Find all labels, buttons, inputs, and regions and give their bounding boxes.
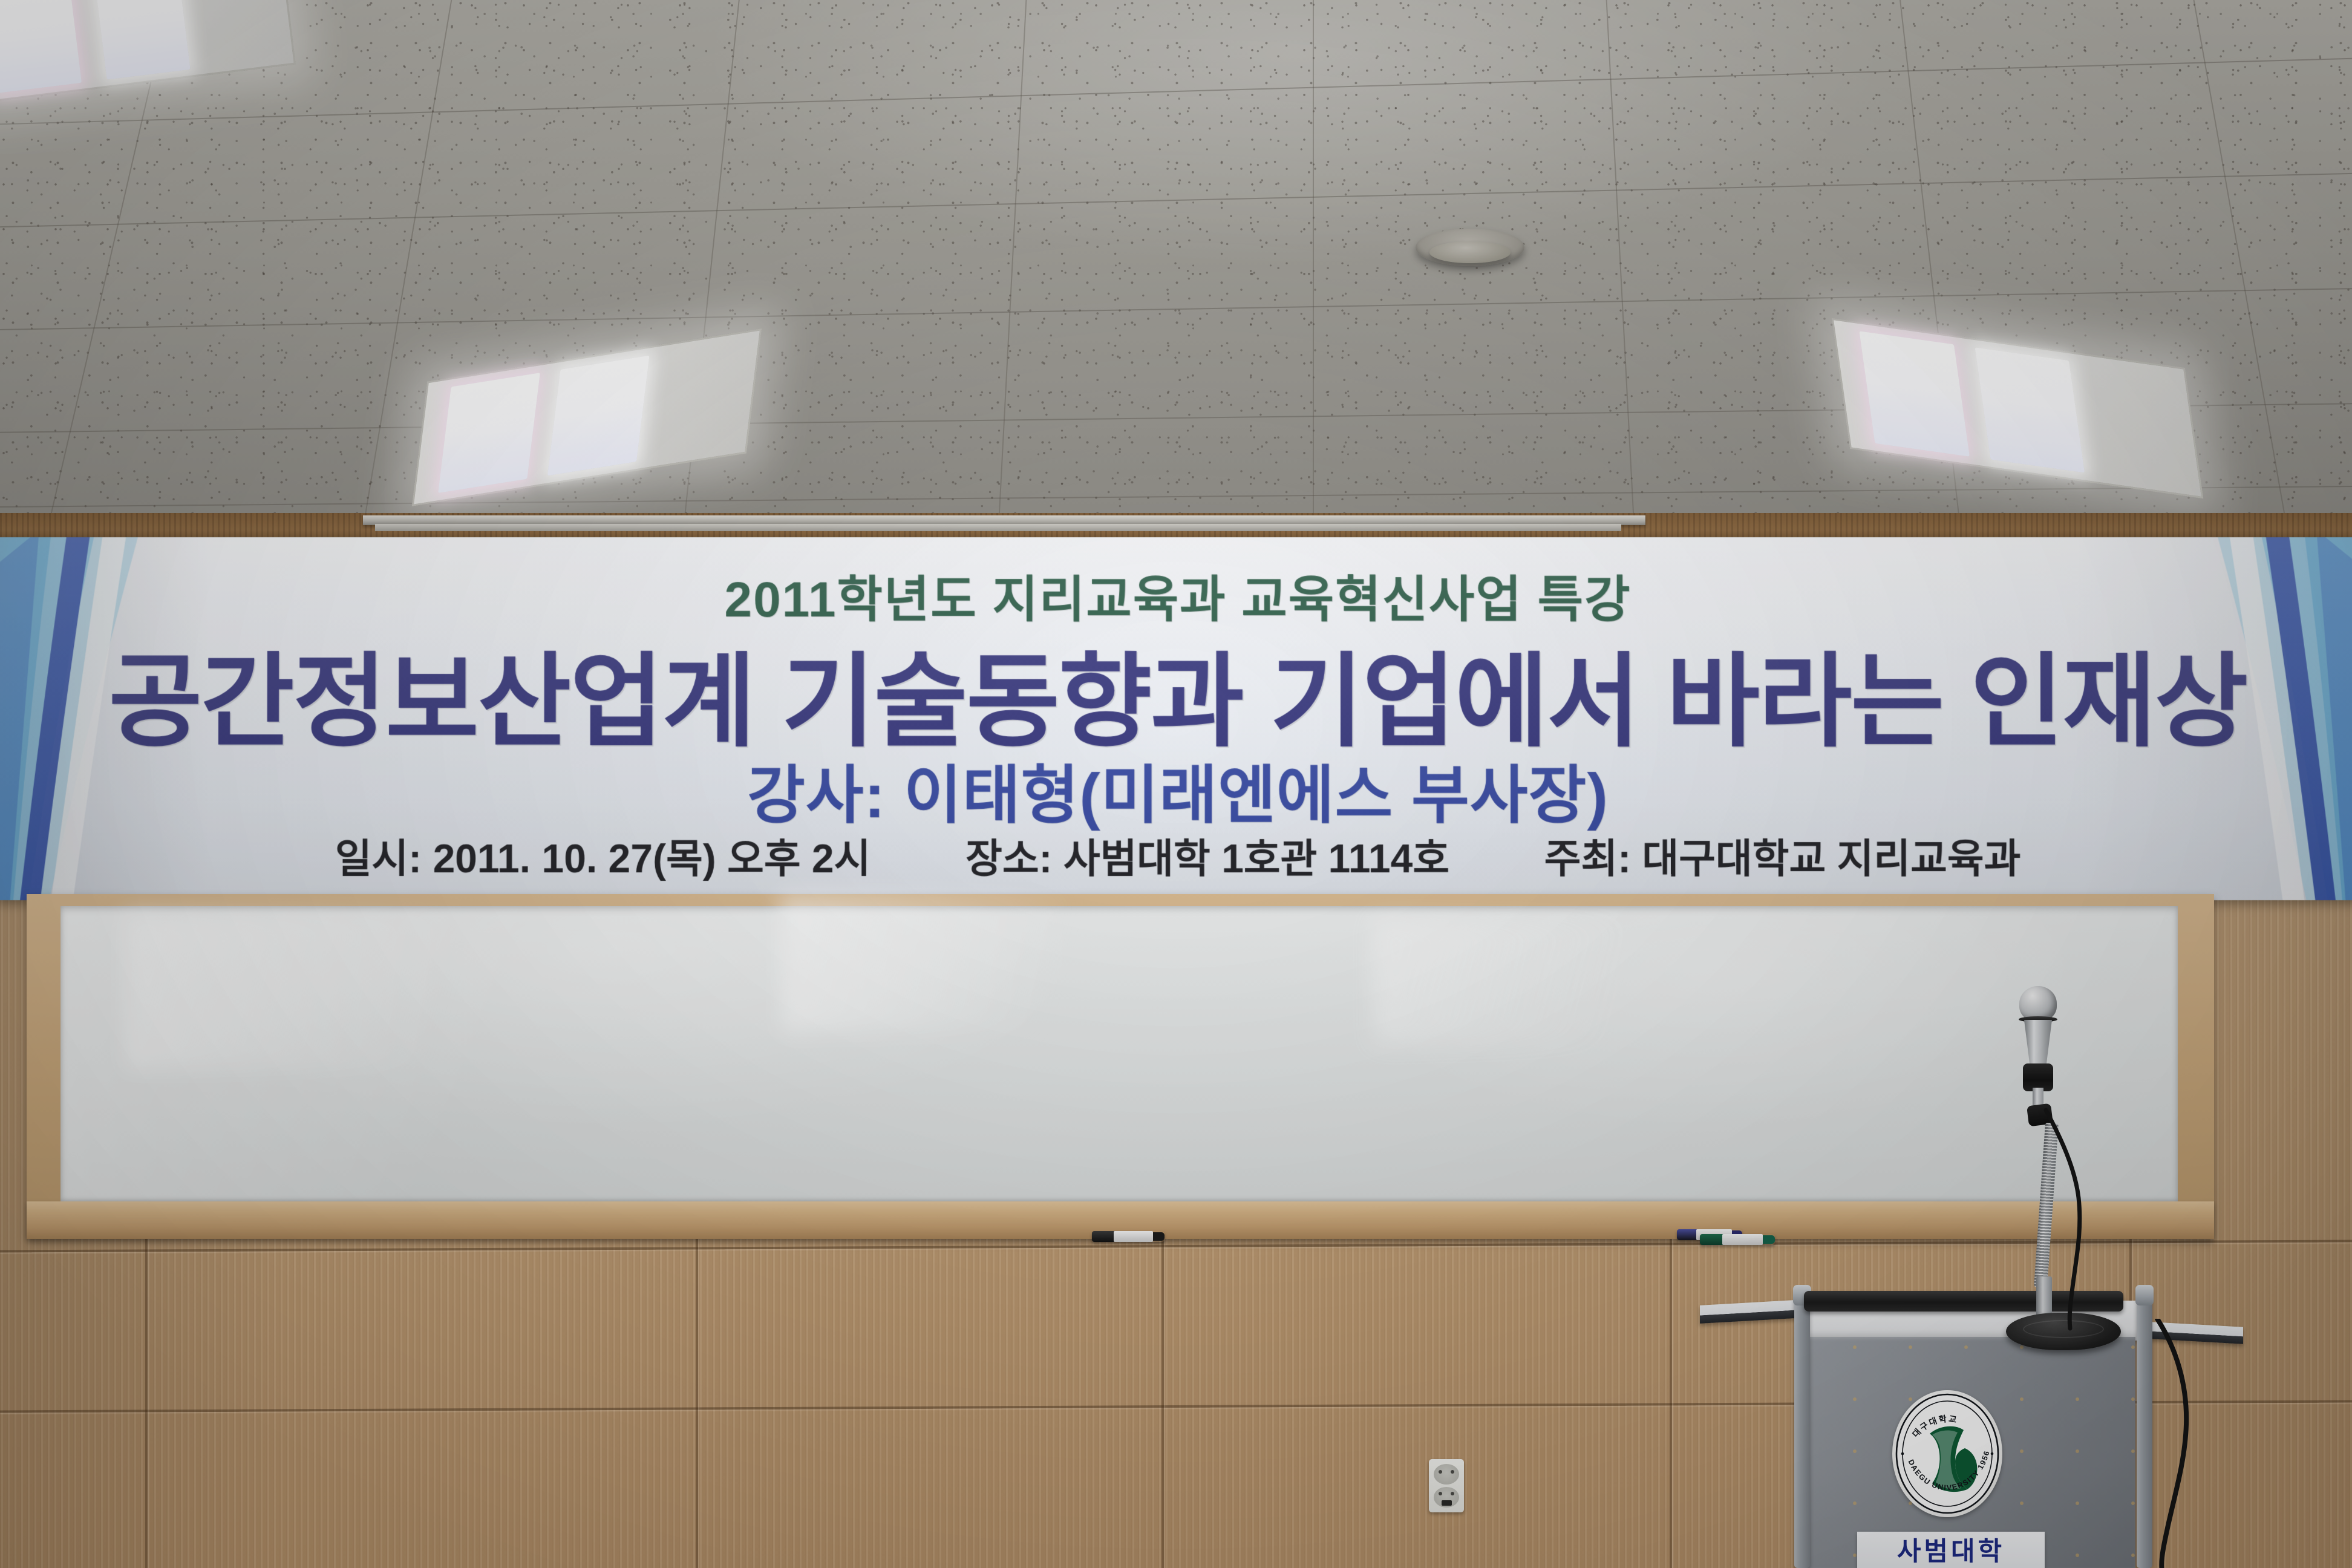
event-banner: 2011학년도 지리교육과 교육혁신사업 특강 공간정보산업계 기술동향과 기업… [0, 537, 2352, 900]
whiteboard [27, 894, 2214, 1239]
microphone-cable [2002, 986, 2160, 1337]
smoke-detector-icon [1416, 229, 1524, 266]
banner-place: 장소: 사범대학 1호관 1114호 [965, 826, 1449, 884]
outlet-socket-upper [1434, 1464, 1459, 1485]
daegu-university-emblem-icon: 대구대학교 DAEGU UNIVERSITY 1956 [1892, 1390, 2002, 1517]
podium-nameplate-text: 사범대학 [1897, 1539, 2005, 1565]
whiteboard-surface [60, 906, 2178, 1201]
microphone-gooseneck [2034, 1123, 2059, 1288]
banner-speaker: 강사: 이태형(미래엔에스 부사장) [0, 744, 2352, 835]
banner-info-line: 일시: 2011. 10. 27(목) 오후 2시 장소: 사범대학 1호관 1… [0, 826, 2352, 884]
banner-datetime: 일시: 2011. 10. 27(목) 오후 2시 [335, 826, 871, 884]
gooseneck-microphone [2002, 986, 2160, 1337]
ceiling [0, 0, 2352, 532]
black-marker [1092, 1231, 1165, 1242]
banner-mounting-rail-lower [375, 524, 1621, 531]
podium-nameplate: 사범대학 [1857, 1532, 2045, 1568]
banner-host: 주최: 대구대학교 지리교육과 [1544, 826, 2021, 884]
outlet-socket-lower [1434, 1487, 1459, 1508]
green-marker [1700, 1234, 1775, 1245]
podium-left-rail [1794, 1287, 1810, 1568]
power-outlet [1429, 1459, 1464, 1512]
lecture-hall-photo: 2011학년도 지리교육과 교육혁신사업 특강 공간정보산업계 기술동향과 기업… [0, 0, 2352, 1568]
